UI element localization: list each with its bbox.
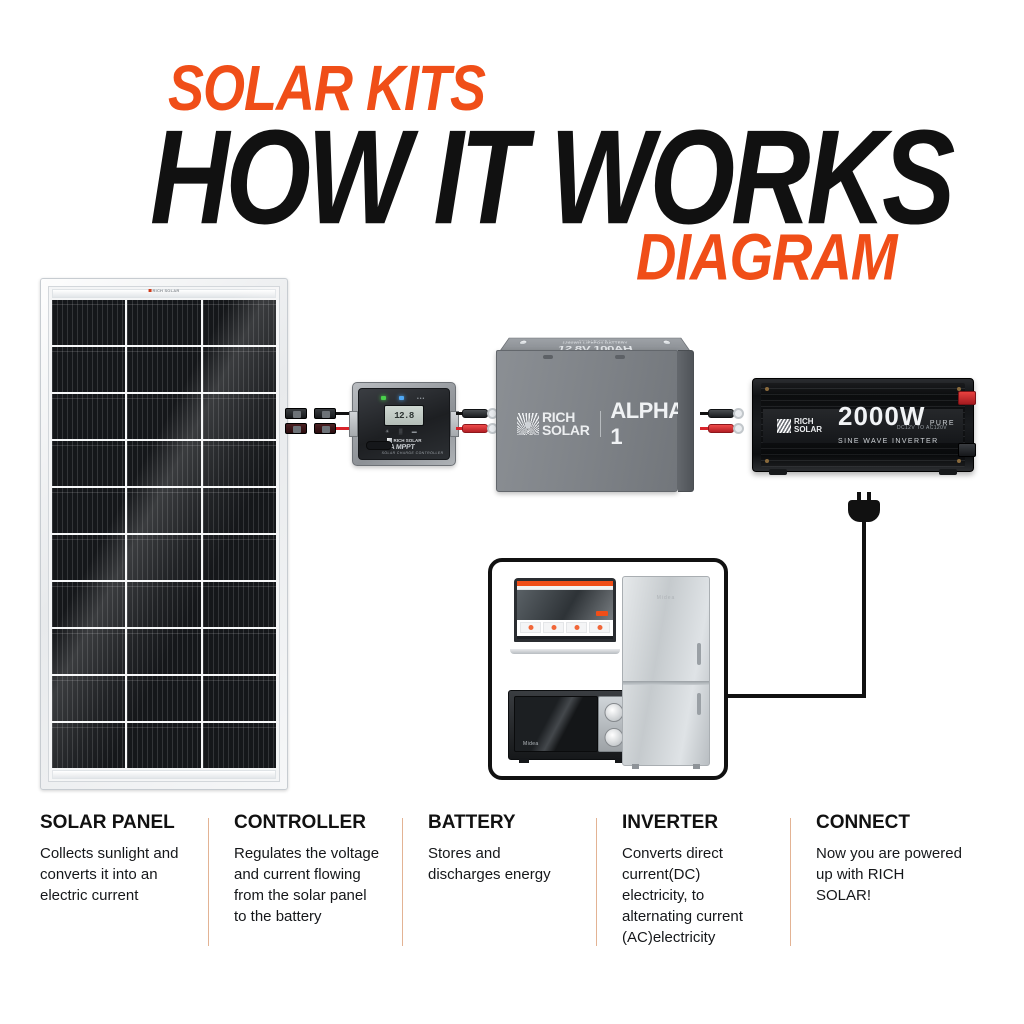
legend-item-battery: BATTERY Stores and discharges energy [402,812,596,948]
battery-front-face: RICHSOLAR ALPHA 1 [496,350,678,492]
panel-cell [52,441,125,486]
panel-brand-label: RICH SOLAR [149,289,180,293]
panel-cell [127,582,200,627]
battery-branding: RICHSOLAR ALPHA 1 [517,398,683,450]
led-green-icon [381,396,386,400]
refrigerator-foot [693,764,700,769]
microwave-graphic: Midea [508,690,636,760]
charge-controller-graphic: ••• 12.8 ☀ ▒ ▬ RICH SOLAR 40A MPPT SOLAR… [352,382,456,466]
inverter-foot [769,469,787,475]
legend-grid: SOLAR PANEL Collects sunlight and conver… [0,812,1024,948]
panel-cell [127,300,200,345]
ring-terminal-lug-red [462,423,498,434]
panel-busbar-bottom [52,770,276,779]
ring-terminal-lug-red [708,423,744,434]
controller-mode-icons: ☀ ▒ ▬ [385,429,421,435]
legend-title: SOLAR PANEL [40,812,186,834]
panel-cell [127,347,200,392]
panel-cell [127,723,200,768]
inverter-ac-outlet [958,443,976,457]
panel-cell [127,488,200,533]
microwave-foot [519,758,529,763]
microwave-brand-label: Midea [523,741,539,747]
laptop-website [517,581,613,639]
inverter-graphic: RICHSOLAR 2000W PURE SINE WAVE INVERTER … [752,378,974,472]
legend-description: Collects sunlight and converts it into a… [40,843,186,906]
panel-cell [52,582,125,627]
legend-divider [402,818,403,946]
refrigerator-lower-handle [697,693,701,715]
legend-item-inverter: INVERTER Converts direct current(DC) ele… [596,812,790,948]
product-card [589,622,610,633]
microwave-power-knob [605,703,624,722]
controller-port-slot [366,441,392,450]
panel-cell [203,582,276,627]
panel-cell-grid [52,300,276,768]
panel-cell [203,629,276,674]
inverter-brand-logo: RICHSOLAR [777,418,822,434]
legend-item-connect: CONNECT Now you are powered up with RICH… [790,812,984,948]
panel-cell [52,723,125,768]
inverter-foot [939,469,957,475]
ring-terminal-lug-black [462,408,498,419]
battery-vent [543,355,553,359]
solar-panel-graphic: RICH SOLAR [40,278,288,790]
controller-indicator-dots: ••• [417,397,425,402]
screw-icon [765,459,769,463]
panel-cell [127,629,200,674]
legend-divider [208,818,209,946]
panel-brand-mark [149,289,152,292]
solar-panel-glass: RICH SOLAR [48,286,280,782]
legend-description: Stores and discharges energy [428,843,574,885]
refrigerator-brand-label: Midea [657,595,676,601]
mc4-connector-icon [314,408,336,419]
panel-cell [203,300,276,345]
ac-cable-horizontal [724,694,866,698]
controller-mount-tab [349,411,358,437]
website-hero-image [517,590,613,620]
legend-section: SOLAR PANEL Collects sunlight and conver… [0,812,1024,1012]
legend-item-solar-panel: SOLAR PANEL Collects sunlight and conver… [40,812,208,948]
legend-title: CONNECT [816,812,962,834]
battery-side-face [678,350,694,492]
controller-brand-label: RICH SOLAR [387,438,422,443]
ring-terminal-icon [733,423,744,434]
legend-description: Now you are powered up with RICH SOLAR! [816,843,962,906]
refrigerator-door-split [623,681,709,685]
panel-cell [52,629,125,674]
system-diagram: RICH SOLAR [0,260,1024,805]
battery-graphic: RICH | ALPHA 1 1280WH LiFePO4 BATTERY 12… [496,322,694,492]
mc4-connector-icon [285,408,307,419]
legend-title: CONTROLLER [234,812,380,834]
panel-cell [127,441,200,486]
sunburst-icon [517,413,539,435]
legend-description: Regulates the voltage and current flowin… [234,843,380,927]
screw-icon [957,459,961,463]
panel-cell [203,488,276,533]
microwave-door: Midea [514,696,598,752]
laptop-graphic [510,578,620,654]
legend-title: BATTERY [428,812,574,834]
brand-mark-icon [777,419,791,433]
panel-cell [127,535,200,580]
panel-cell [52,300,125,345]
mc4-connector-icon [285,423,307,434]
refrigerator-upper-handle [697,643,701,665]
refrigerator-foot [632,764,639,769]
screw-icon [765,387,769,391]
led-blue-icon [399,396,404,400]
legend-divider [596,818,597,946]
website-footer [517,636,613,639]
panel-cell [52,347,125,392]
panel-cell [203,535,276,580]
controller-front-panel: ••• 12.8 ☀ ▒ ▬ RICH SOLAR 40A MPPT SOLAR… [358,388,450,460]
battery-model-label: ALPHA 1 [610,398,683,450]
panel-cell [127,676,200,721]
battery-terminal-positive [662,340,673,345]
battery-terminal-negative [518,340,529,345]
product-card [543,622,564,633]
panel-cell [203,394,276,439]
refrigerator-graphic: Midea [622,576,710,766]
inverter-spec-label: DC12V TO AC120V [897,425,947,431]
panel-cell [52,394,125,439]
controller-lcd-display: 12.8 [384,405,424,426]
panel-cell [203,723,276,768]
website-product-row [517,620,613,635]
appliance-group: Midea Midea [488,558,728,780]
infographic-page: SOLAR KITS HOW IT WORKS DIAGRAM RICH SOL… [0,0,1024,1024]
panel-cell [203,676,276,721]
panel-cell [52,676,125,721]
legend-description: Converts direct current(DC) electricity,… [622,843,768,948]
legend-title: INVERTER [622,812,768,834]
inverter-dc-positive-terminal [958,391,976,405]
laptop-base [510,649,620,654]
panel-cell [203,441,276,486]
product-card [520,622,541,633]
microwave-timer-knob [605,728,624,747]
panel-cell [52,488,125,533]
mc4-connector-icon [314,423,336,434]
product-card [566,622,587,633]
legend-divider [790,818,791,946]
legend-item-controller: CONTROLLER Regulates the voltage and cur… [208,812,402,948]
battery-brand-logo: RICHSOLAR [517,411,590,437]
panel-cell [52,535,125,580]
battery-vent [615,355,625,359]
ring-terminal-icon [733,408,744,419]
panel-cell [203,347,276,392]
ring-terminal-lug-black [708,408,744,419]
ac-cable-vertical [862,518,866,698]
divider [600,411,601,437]
panel-cell [127,394,200,439]
title-block: SOLAR KITS HOW IT WORKS DIAGRAM [0,40,1024,270]
laptop-screen-lid [514,578,616,642]
